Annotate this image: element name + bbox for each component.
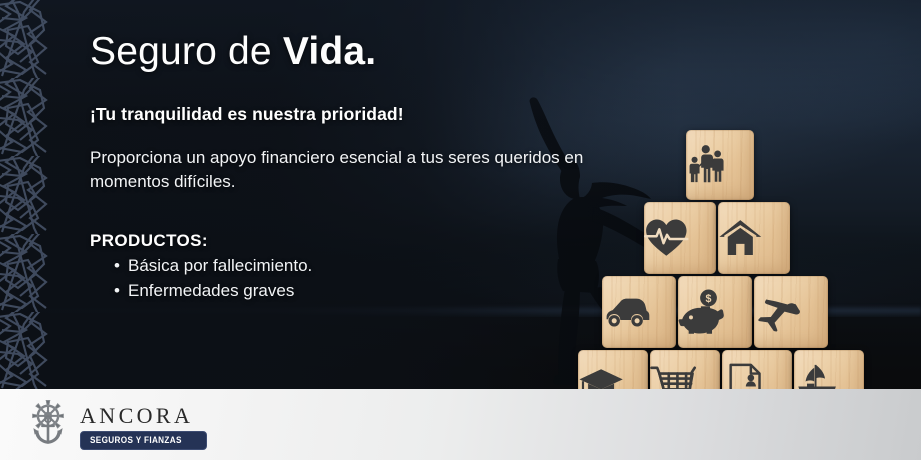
block-family (686, 130, 754, 200)
piggy-bank-icon: $ (678, 288, 752, 337)
block-home (718, 202, 790, 274)
tagline: ¡Tu tranquilidad es nuestra prioridad! (90, 104, 404, 125)
page-title: Seguro de Vida. (90, 31, 376, 74)
logo-wordmark: ANCORA (80, 403, 193, 429)
block-auto (602, 276, 676, 348)
products-heading: PRODUCTOS: (90, 231, 208, 251)
list-item: Básica por fallecimiento. (114, 255, 312, 277)
family-icon (686, 144, 754, 186)
company-logo[interactable]: ANCORA SEGUROS Y FIANZAS (22, 396, 202, 452)
description: Proporciona un apoyo financiero esencial… (90, 146, 635, 194)
svg-text:$: $ (706, 293, 712, 305)
block-savings: $ (678, 276, 752, 348)
title-regular: Seguro de (90, 30, 283, 73)
car-icon (602, 288, 676, 337)
logo-badge: SEGUROS Y FIANZAS (80, 431, 207, 450)
block-travel (754, 276, 828, 348)
title-bold: Vida. (283, 30, 377, 73)
life-insurance-banner: Seguro de Vida. ¡Tu tranquilidad es nues… (0, 0, 921, 460)
ship-wheel-anchor-icon (22, 398, 74, 450)
wooden-blocks-pyramid: $ (578, 130, 921, 405)
block-health (644, 202, 716, 274)
products-list: Básica por fallecimiento. Enfermedades g… (114, 255, 312, 305)
geometric-lattice-pattern (0, 0, 48, 390)
logo-badge-text: SEGUROS Y FIANZAS (90, 435, 182, 446)
heart-pulse-icon (644, 216, 716, 261)
airplane-icon (754, 288, 828, 337)
list-item: Enfermedades graves (114, 280, 312, 302)
house-icon (718, 216, 790, 261)
